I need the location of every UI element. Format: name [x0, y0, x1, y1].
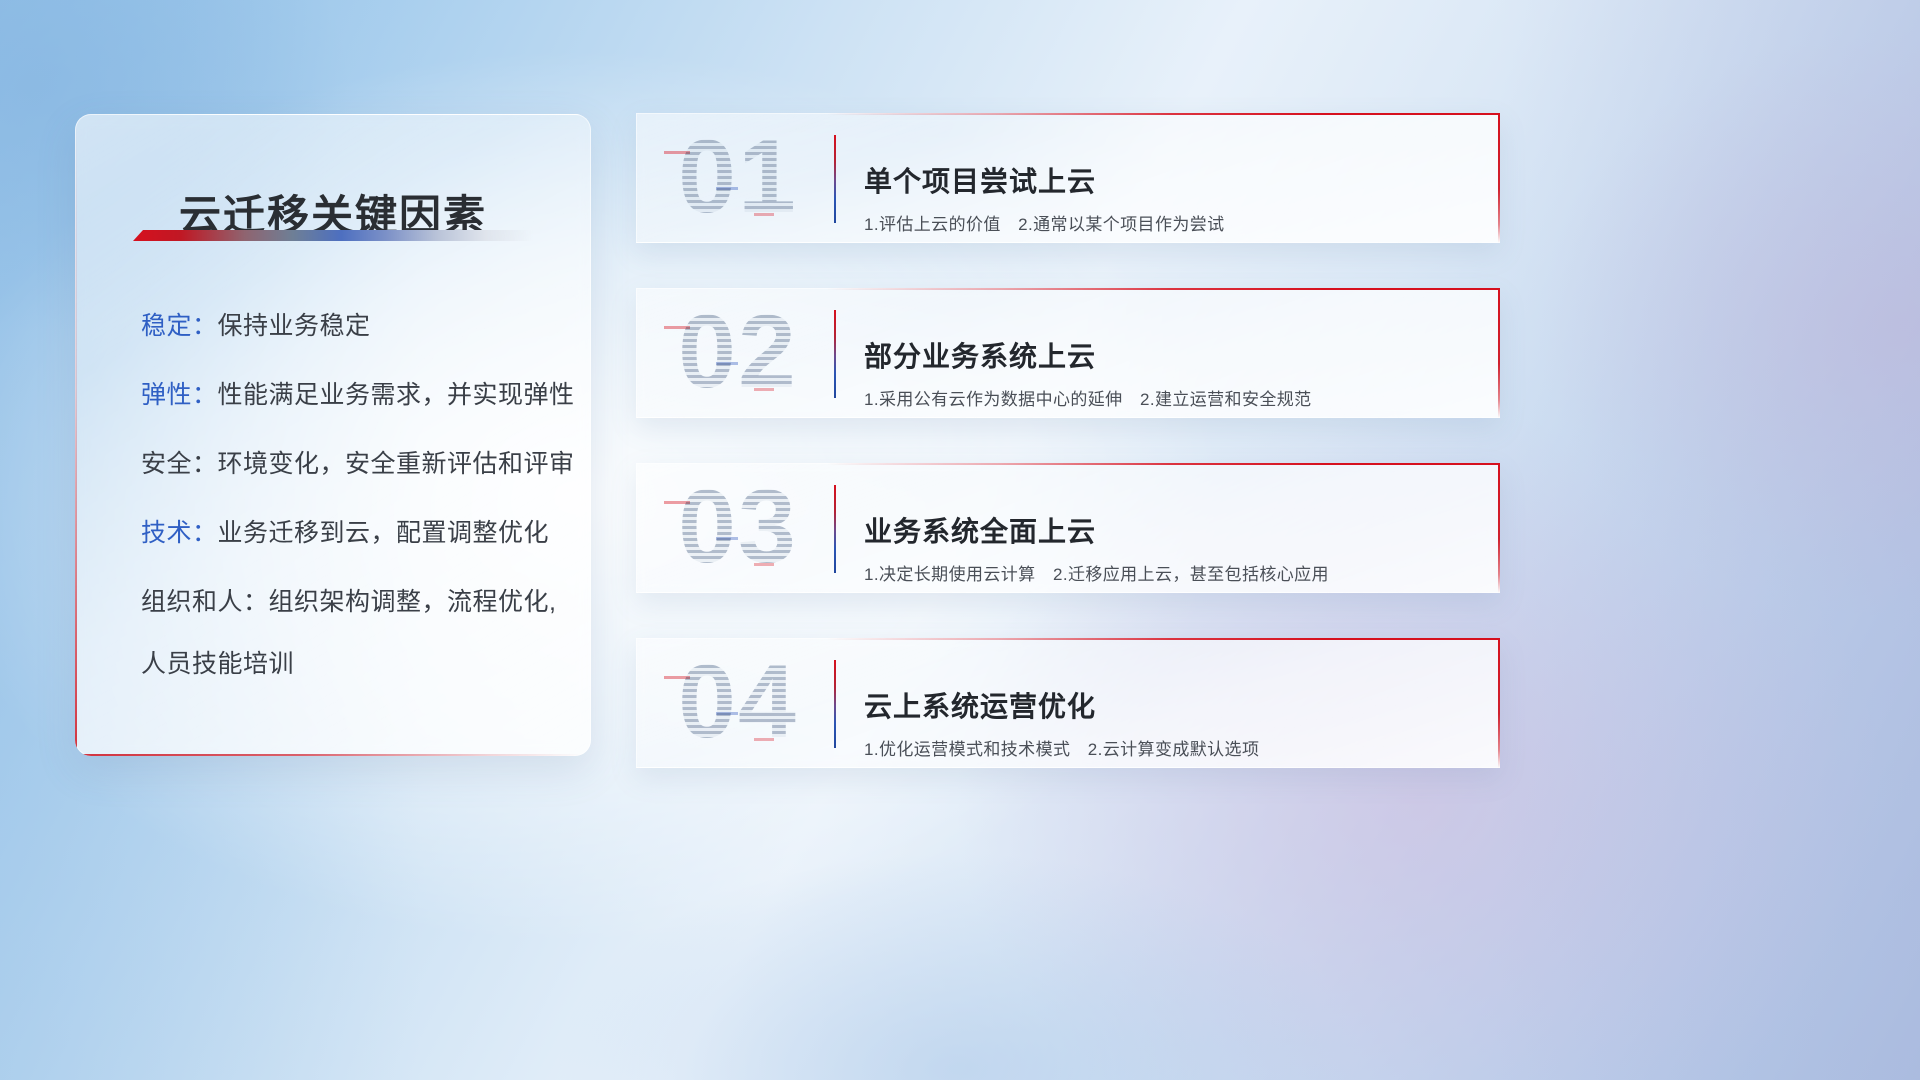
- panel-top-edge: [85, 114, 591, 115]
- factor-text: 业务迁移到云，配置调整优化: [218, 519, 550, 547]
- card-divider: [834, 660, 836, 748]
- panel-bottom-accent-edge: [75, 754, 583, 756]
- factor-label: 弹性：: [141, 381, 218, 409]
- list-item: 技术：业务迁移到云，配置调整优化: [141, 517, 567, 549]
- factor-label: 组织和人：: [141, 588, 269, 616]
- key-factors-panel: 云迁移关键因素 稳定：保持业务稳定 弹性：性能满足业务需求，并实现弹性 安全：环…: [75, 114, 591, 756]
- factor-text: 环境变化，安全重新评估和评审: [218, 450, 575, 478]
- factor-label: 稳定：: [141, 312, 218, 340]
- factor-text: 人员技能培训: [141, 650, 294, 678]
- stage-card-01[interactable]: 01 01 单个项目尝试上云 1.评估上云的价值 2.通常以某个项目作为尝试: [636, 113, 1500, 243]
- card-right-accent: [1498, 463, 1500, 593]
- stage-subtitle: 1.采用公有云作为数据中心的延伸 2.建立运营和安全规范: [864, 385, 1312, 410]
- card-right-accent: [1498, 638, 1500, 768]
- card-top-accent: [636, 463, 1500, 465]
- stage-subtitle: 1.决定长期使用云计算 2.迁移应用上云，甚至包括核心应用: [864, 560, 1329, 585]
- card-bottom-edge: [636, 417, 1500, 418]
- stage-number: 01: [658, 121, 818, 233]
- stage-title: 业务系统全面上云: [864, 510, 1096, 550]
- stage-subtitle: 1.优化运营模式和技术模式 2.云计算变成默认选项: [864, 735, 1259, 760]
- key-factors-list: 稳定：保持业务稳定 弹性：性能满足业务需求，并实现弹性 安全：环境变化，安全重新…: [141, 310, 567, 680]
- card-bottom-edge: [636, 592, 1500, 593]
- list-item: 稳定：保持业务稳定: [141, 310, 567, 342]
- card-divider: [834, 135, 836, 223]
- migration-stages-list: 01 01 单个项目尝试上云 1.评估上云的价值 2.通常以某个项目作为尝试 0…: [636, 113, 1500, 813]
- card-bottom-edge: [636, 242, 1500, 243]
- list-item: 弹性：性能满足业务需求，并实现弹性: [141, 379, 567, 411]
- factor-label: 技术：: [141, 519, 218, 547]
- stage-title: 云上系统运营优化: [864, 685, 1096, 725]
- stage-title: 部分业务系统上云: [864, 335, 1096, 375]
- stage-card-03[interactable]: 03 03 业务系统全面上云 1.决定长期使用云计算 2.迁移应用上云，甚至包括…: [636, 463, 1500, 593]
- card-divider: [834, 310, 836, 398]
- stage-number: 04: [658, 646, 818, 758]
- factor-label: 安全：: [141, 450, 218, 478]
- card-top-accent: [636, 113, 1500, 115]
- factor-text: 性能满足业务需求，并实现弹性: [218, 381, 575, 409]
- factor-text: 保持业务稳定: [218, 312, 371, 340]
- card-divider: [834, 485, 836, 573]
- stage-title: 单个项目尝试上云: [864, 160, 1096, 200]
- list-item: 组织和人：组织架构调整，流程优化,: [141, 586, 567, 618]
- card-right-accent: [1498, 288, 1500, 418]
- list-item-continuation: 人员技能培训: [141, 648, 567, 680]
- card-bottom-edge: [636, 767, 1500, 768]
- stage-number: 02: [658, 296, 818, 408]
- card-top-accent: [636, 638, 1500, 640]
- stage-subtitle: 1.评估上云的价值 2.通常以某个项目作为尝试: [864, 210, 1225, 235]
- title-underline-accent: [133, 230, 533, 241]
- card-right-accent: [1498, 113, 1500, 243]
- card-top-accent: [636, 288, 1500, 290]
- stage-card-04[interactable]: 04 04 云上系统运营优化 1.优化运营模式和技术模式 2.云计算变成默认选项: [636, 638, 1500, 768]
- stage-card-02[interactable]: 02 02 部分业务系统上云 1.采用公有云作为数据中心的延伸 2.建立运营和安…: [636, 288, 1500, 418]
- stage-number: 03: [658, 471, 818, 583]
- list-item: 安全：环境变化，安全重新评估和评审: [141, 448, 567, 480]
- factor-text: 组织架构调整，流程优化,: [269, 588, 557, 616]
